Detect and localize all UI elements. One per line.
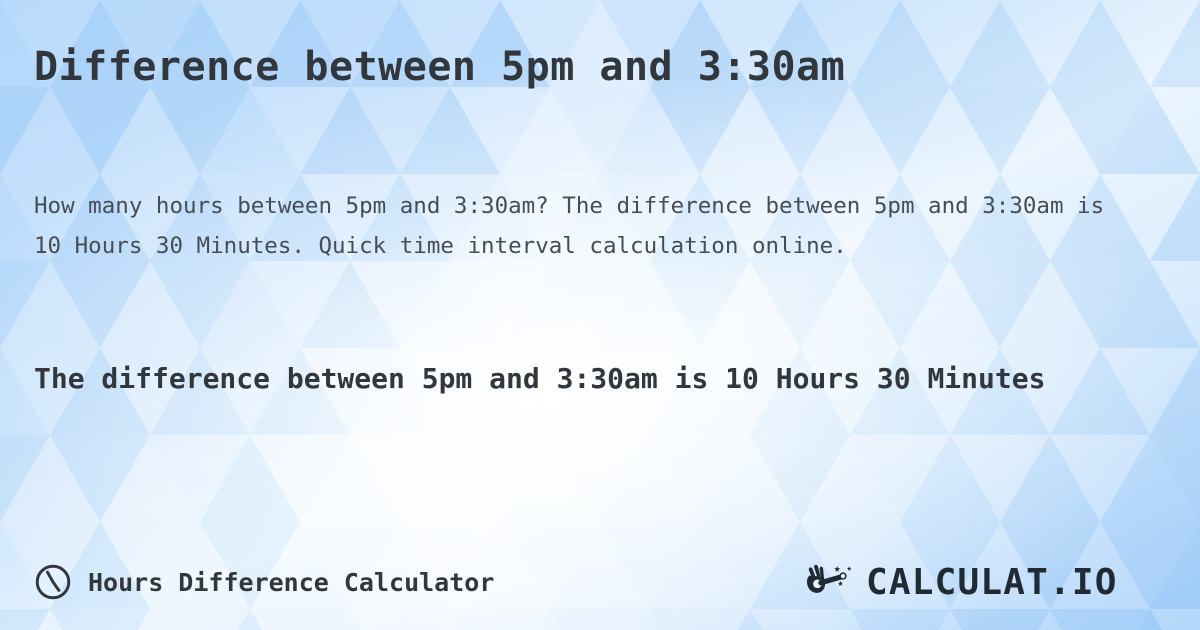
clock-icon: [34, 563, 72, 601]
site-logo[interactable]: CALCULAT.IO: [803, 560, 1166, 604]
logo-wordmark-svg: CALCULAT.IO: [866, 560, 1166, 604]
footer: Hours Difference Calculator: [34, 556, 1166, 608]
description-text: How many hours between 5pm and 3:30am? T…: [34, 186, 1144, 266]
footer-tool-link[interactable]: Hours Difference Calculator: [34, 563, 494, 601]
answer-text: The difference between 5pm and 3:30am is…: [34, 355, 1124, 403]
content-area: Difference between 5pm and 3:30am How ma…: [0, 0, 1200, 630]
footer-tool-label: Hours Difference Calculator: [88, 568, 494, 597]
logo-wordmark: CALCULAT.IO: [866, 560, 1166, 604]
page-title: Difference between 5pm and 3:30am: [34, 44, 845, 90]
logo-text: CALCULAT.IO: [866, 562, 1118, 603]
magic-wand-hand-icon: [803, 562, 859, 602]
page-root: Difference between 5pm and 3:30am How ma…: [0, 0, 1200, 630]
